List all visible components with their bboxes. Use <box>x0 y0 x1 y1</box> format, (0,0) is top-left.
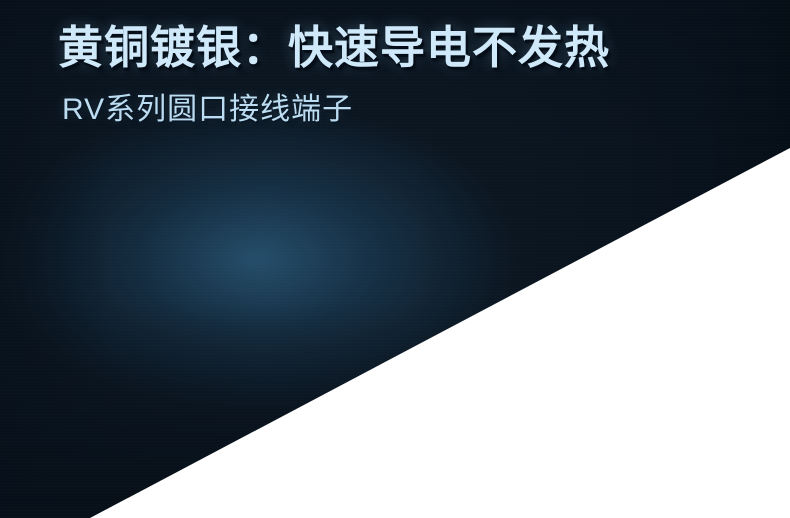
banner-text-block: 黄铜镀银：快速导电不发热 RV系列圆口接线端子 <box>58 18 758 130</box>
banner-subheadline: RV系列圆口接线端子 <box>62 90 758 130</box>
product-banner: 黄铜镀银：快速导电不发热 RV系列圆口接线端子 <box>0 0 790 518</box>
banner-headline: 黄铜镀银：快速导电不发热 <box>58 18 758 78</box>
